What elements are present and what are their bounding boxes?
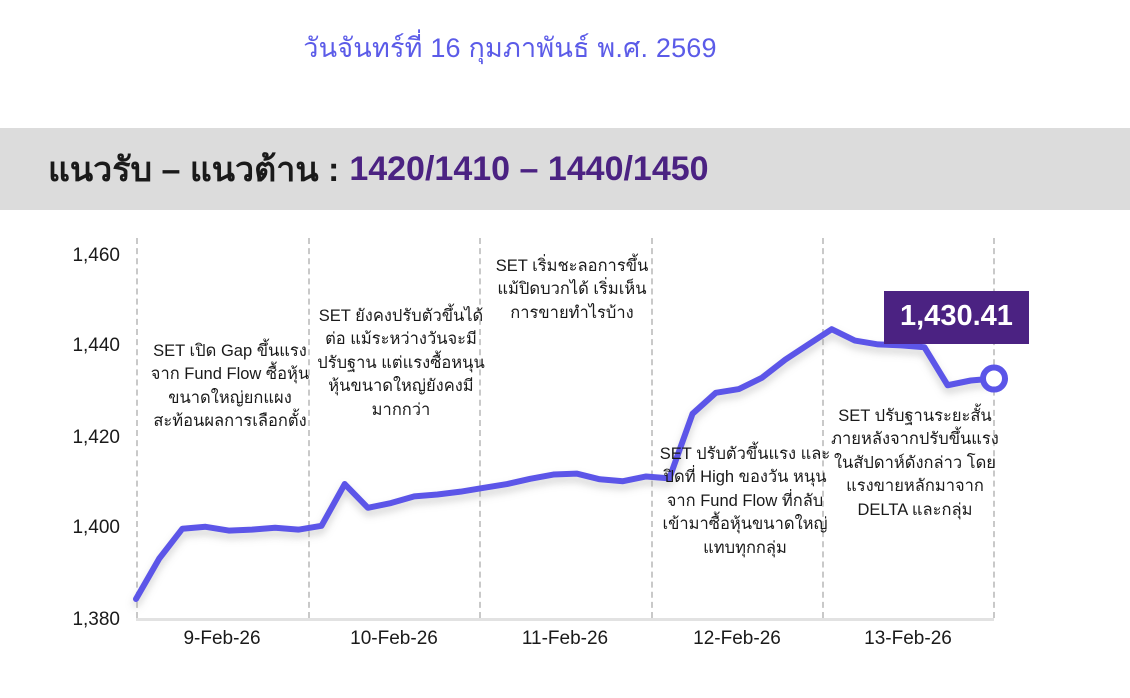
- last-value-marker: [983, 368, 1005, 390]
- support-resistance-values: 1420/1410 – 1440/1450: [349, 150, 708, 189]
- y-tick-1400: 1,400: [36, 517, 120, 539]
- support-resistance-band: แนวรับ – แนวต้าน : 1420/1410 – 1440/1450: [0, 128, 1130, 210]
- support-resistance-label: แนวรับ – แนวต้าน :: [48, 142, 339, 196]
- x-tick-10-feb: 10-Feb-26: [350, 628, 438, 650]
- annotation-day4: SET ปรับตัวขึ้นแรง และปิดที่ High ของวัน…: [657, 443, 833, 560]
- x-tick-12-feb: 12-Feb-26: [693, 628, 781, 650]
- x-axis-baseline: [136, 618, 994, 621]
- y-axis-labels: 1,460 1,440 1,420 1,400 1,380: [0, 238, 120, 618]
- x-tick-13-feb: 13-Feb-26: [864, 628, 952, 650]
- annotation-day1: SET เปิด Gap ขึ้นแรง จาก Fund Flow ซื้อห…: [141, 340, 319, 434]
- x-tick-11-feb: 11-Feb-26: [522, 628, 608, 650]
- x-axis-labels: 9-Feb-26 10-Feb-26 11-Feb-26 12-Feb-26 1…: [136, 628, 994, 668]
- chart-page: วันจันทร์ที่ 16 กุมภาพันธ์ พ.ศ. 2569 แนว…: [0, 0, 1130, 698]
- last-value-badge: 1,430.41: [884, 291, 1029, 344]
- y-tick-1460: 1,460: [36, 245, 120, 267]
- set-index-chart: 1,460 1,440 1,420 1,400 1,380 9-Feb-26: [0, 210, 1130, 698]
- annotation-day3: SET เริ่มชะลอการขึ้น แม้ปิดบวกได้ เริ่มเ…: [484, 255, 660, 325]
- y-tick-1440: 1,440: [36, 335, 120, 357]
- support-resistance-title: แนวรับ – แนวต้าน : 1420/1410 – 1440/1450: [48, 128, 709, 210]
- x-tick-9-feb: 9-Feb-26: [183, 628, 260, 650]
- annotation-day5: SET ปรับฐานระยะสั้น ภายหลังจากปรับขึ้นแร…: [826, 405, 1004, 522]
- annotation-day2: SET ยังคงปรับตัวขึ้นได้ต่อ แม้ระหว่างวัน…: [312, 305, 490, 422]
- y-tick-1380: 1,380: [36, 609, 120, 631]
- y-tick-1420: 1,420: [36, 427, 120, 449]
- page-date-header: วันจันทร์ที่ 16 กุมภาพันธ์ พ.ศ. 2569: [0, 26, 1130, 69]
